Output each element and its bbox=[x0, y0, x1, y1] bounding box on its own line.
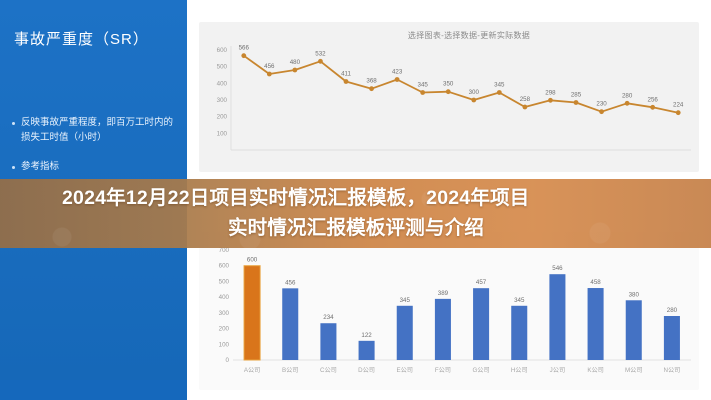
svg-text:345: 345 bbox=[494, 82, 505, 89]
svg-text:456: 456 bbox=[264, 63, 275, 70]
line-chart-y-axis: 100200300400500600 bbox=[217, 46, 691, 150]
svg-text:B公司: B公司 bbox=[282, 367, 299, 374]
svg-text:200: 200 bbox=[217, 114, 228, 121]
screenshot-root: 事故严重度（SR） 反映事故严重程度，即百万工时内的损失工时值（小时） 参考指标… bbox=[0, 0, 711, 400]
svg-text:280: 280 bbox=[667, 307, 678, 314]
svg-text:N公司: N公司 bbox=[663, 367, 680, 374]
bullet-dot-icon bbox=[12, 122, 15, 125]
svg-text:700: 700 bbox=[219, 247, 230, 254]
svg-text:480: 480 bbox=[290, 59, 301, 66]
svg-text:0: 0 bbox=[226, 357, 230, 364]
overlay-title: 2024年12月22日项目实时情况汇报模板，2024年项目 实时情况汇报模板评测… bbox=[22, 183, 690, 243]
svg-text:345: 345 bbox=[418, 82, 429, 89]
svg-text:298: 298 bbox=[545, 89, 556, 96]
svg-text:400: 400 bbox=[219, 294, 230, 301]
svg-text:K公司: K公司 bbox=[587, 367, 604, 374]
svg-text:500: 500 bbox=[219, 278, 230, 285]
svg-text:345: 345 bbox=[400, 297, 411, 304]
svg-text:300: 300 bbox=[469, 89, 480, 96]
svg-text:J公司: J公司 bbox=[550, 367, 565, 374]
line-chart-data-labels: 5664564805324113684233453503003452582982… bbox=[239, 45, 684, 109]
svg-text:389: 389 bbox=[438, 290, 449, 297]
bar-chart-data-labels: 600456234122345389457345546458380280 bbox=[247, 257, 678, 339]
svg-text:224: 224 bbox=[673, 102, 684, 109]
svg-text:600: 600 bbox=[247, 257, 258, 264]
svg-text:122: 122 bbox=[361, 332, 372, 339]
sidebar-footer-strip bbox=[0, 380, 187, 400]
svg-text:380: 380 bbox=[629, 291, 640, 298]
svg-text:368: 368 bbox=[366, 78, 377, 85]
svg-text:A公司: A公司 bbox=[244, 367, 261, 374]
svg-text:532: 532 bbox=[315, 50, 326, 57]
page-title: 事故严重度（SR） bbox=[14, 30, 179, 50]
line-chart-plot: 100200300400500600 566456480532411368423… bbox=[199, 22, 699, 172]
svg-text:H公司: H公司 bbox=[511, 367, 528, 374]
list-item: 反映事故严重程度，即百万工时内的损失工时值（小时） bbox=[8, 115, 183, 145]
svg-text:546: 546 bbox=[552, 265, 563, 272]
svg-text:345: 345 bbox=[514, 297, 525, 304]
line-chart-series bbox=[241, 53, 680, 115]
svg-text:M公司: M公司 bbox=[625, 367, 643, 374]
svg-text:600: 600 bbox=[219, 263, 230, 270]
line-chart-card: 选择图表-选择数据-更新实际数据 100200300400500600 5664… bbox=[199, 22, 699, 172]
svg-text:D公司: D公司 bbox=[358, 367, 375, 374]
overlay-title-line-2: 实时情况汇报模板评测与介绍 bbox=[22, 213, 690, 243]
svg-text:423: 423 bbox=[392, 69, 403, 76]
svg-text:500: 500 bbox=[217, 64, 228, 71]
bullet-text: 参考指标 bbox=[21, 159, 179, 174]
title-overlay-banner: 2024年12月22日项目实时情况汇报模板，2024年项目 实时情况汇报模板评测… bbox=[0, 179, 711, 248]
svg-text:350: 350 bbox=[443, 81, 454, 88]
bar-chart-plot: 0100200300400500600700 60045623412234538… bbox=[199, 232, 699, 390]
bar-chart-bars bbox=[244, 266, 680, 360]
svg-text:457: 457 bbox=[476, 279, 487, 286]
svg-text:300: 300 bbox=[219, 310, 230, 317]
svg-text:230: 230 bbox=[596, 101, 607, 108]
svg-text:200: 200 bbox=[219, 326, 230, 333]
svg-text:234: 234 bbox=[323, 314, 334, 321]
bullet-list: 反映事故严重程度，即百万工时内的损失工时值（小时） 参考指标 bbox=[8, 115, 183, 188]
svg-text:285: 285 bbox=[571, 92, 582, 99]
svg-text:256: 256 bbox=[648, 96, 659, 103]
svg-text:400: 400 bbox=[217, 80, 228, 87]
svg-text:566: 566 bbox=[239, 45, 250, 52]
svg-text:600: 600 bbox=[217, 47, 228, 54]
svg-text:280: 280 bbox=[622, 92, 633, 99]
svg-text:E公司: E公司 bbox=[396, 367, 413, 374]
svg-text:F公司: F公司 bbox=[435, 367, 451, 374]
svg-text:100: 100 bbox=[219, 341, 230, 348]
overlay-title-line-1: 2024年12月22日项目实时情况汇报模板，2024年项目 bbox=[22, 183, 690, 213]
svg-text:C公司: C公司 bbox=[320, 367, 337, 374]
bar-chart-x-axis: A公司B公司C公司D公司E公司F公司G公司H公司J公司K公司M公司N公司 bbox=[244, 367, 681, 374]
svg-text:G公司: G公司 bbox=[472, 367, 489, 374]
svg-text:100: 100 bbox=[217, 130, 228, 137]
bar-chart-card: 0100200300400500600700 60045623412234538… bbox=[199, 232, 699, 390]
svg-text:300: 300 bbox=[217, 97, 228, 104]
svg-text:458: 458 bbox=[590, 279, 601, 286]
svg-text:456: 456 bbox=[285, 279, 296, 286]
bullet-text: 反映事故严重程度，即百万工时内的损失工时值（小时） bbox=[21, 115, 179, 145]
svg-text:258: 258 bbox=[520, 96, 531, 103]
list-item: 参考指标 bbox=[8, 159, 183, 174]
svg-text:411: 411 bbox=[341, 71, 351, 78]
bullet-dot-icon bbox=[12, 166, 15, 169]
